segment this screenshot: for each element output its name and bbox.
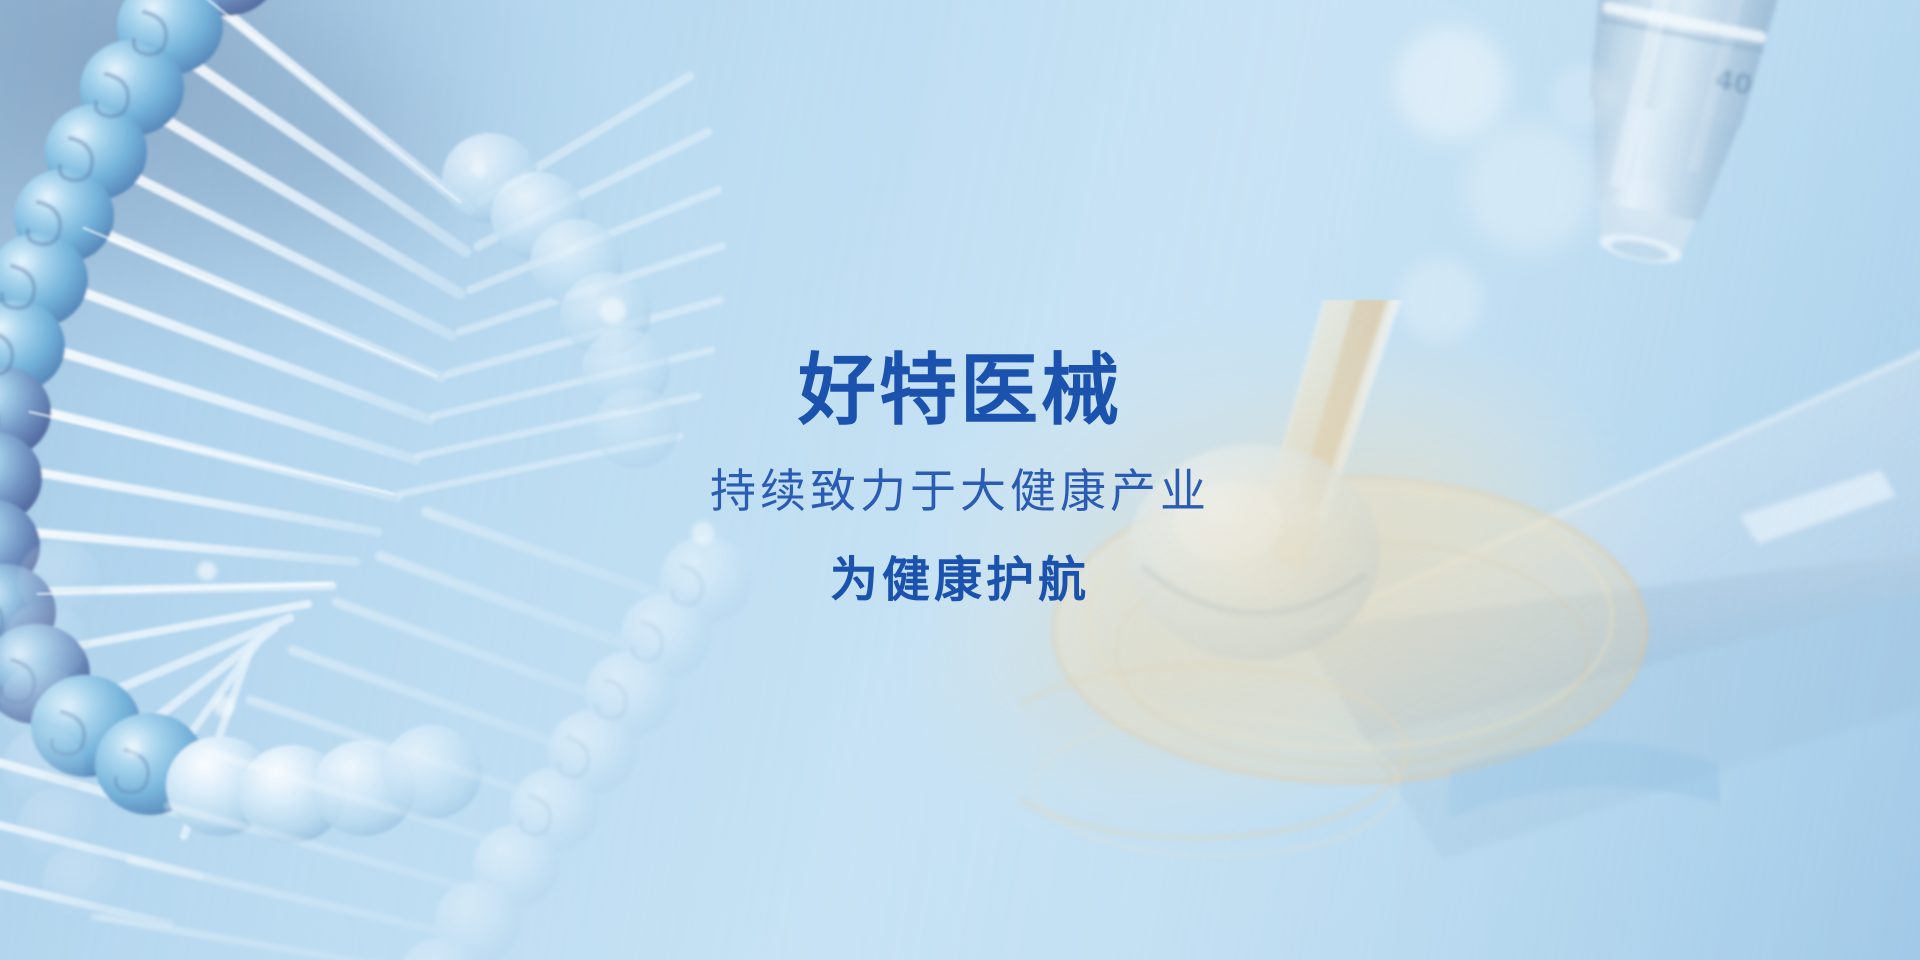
- hero-subheadline: 持续致力于大健康产业: [0, 468, 1920, 514]
- page-title: 好特医械: [0, 352, 1920, 430]
- hero-banner: 40: [0, 0, 1920, 960]
- hero-text-block: 好特医械 持续致力于大健康产业 为健康护航: [0, 352, 1920, 604]
- hero-slogan: 为健康护航: [0, 556, 1920, 604]
